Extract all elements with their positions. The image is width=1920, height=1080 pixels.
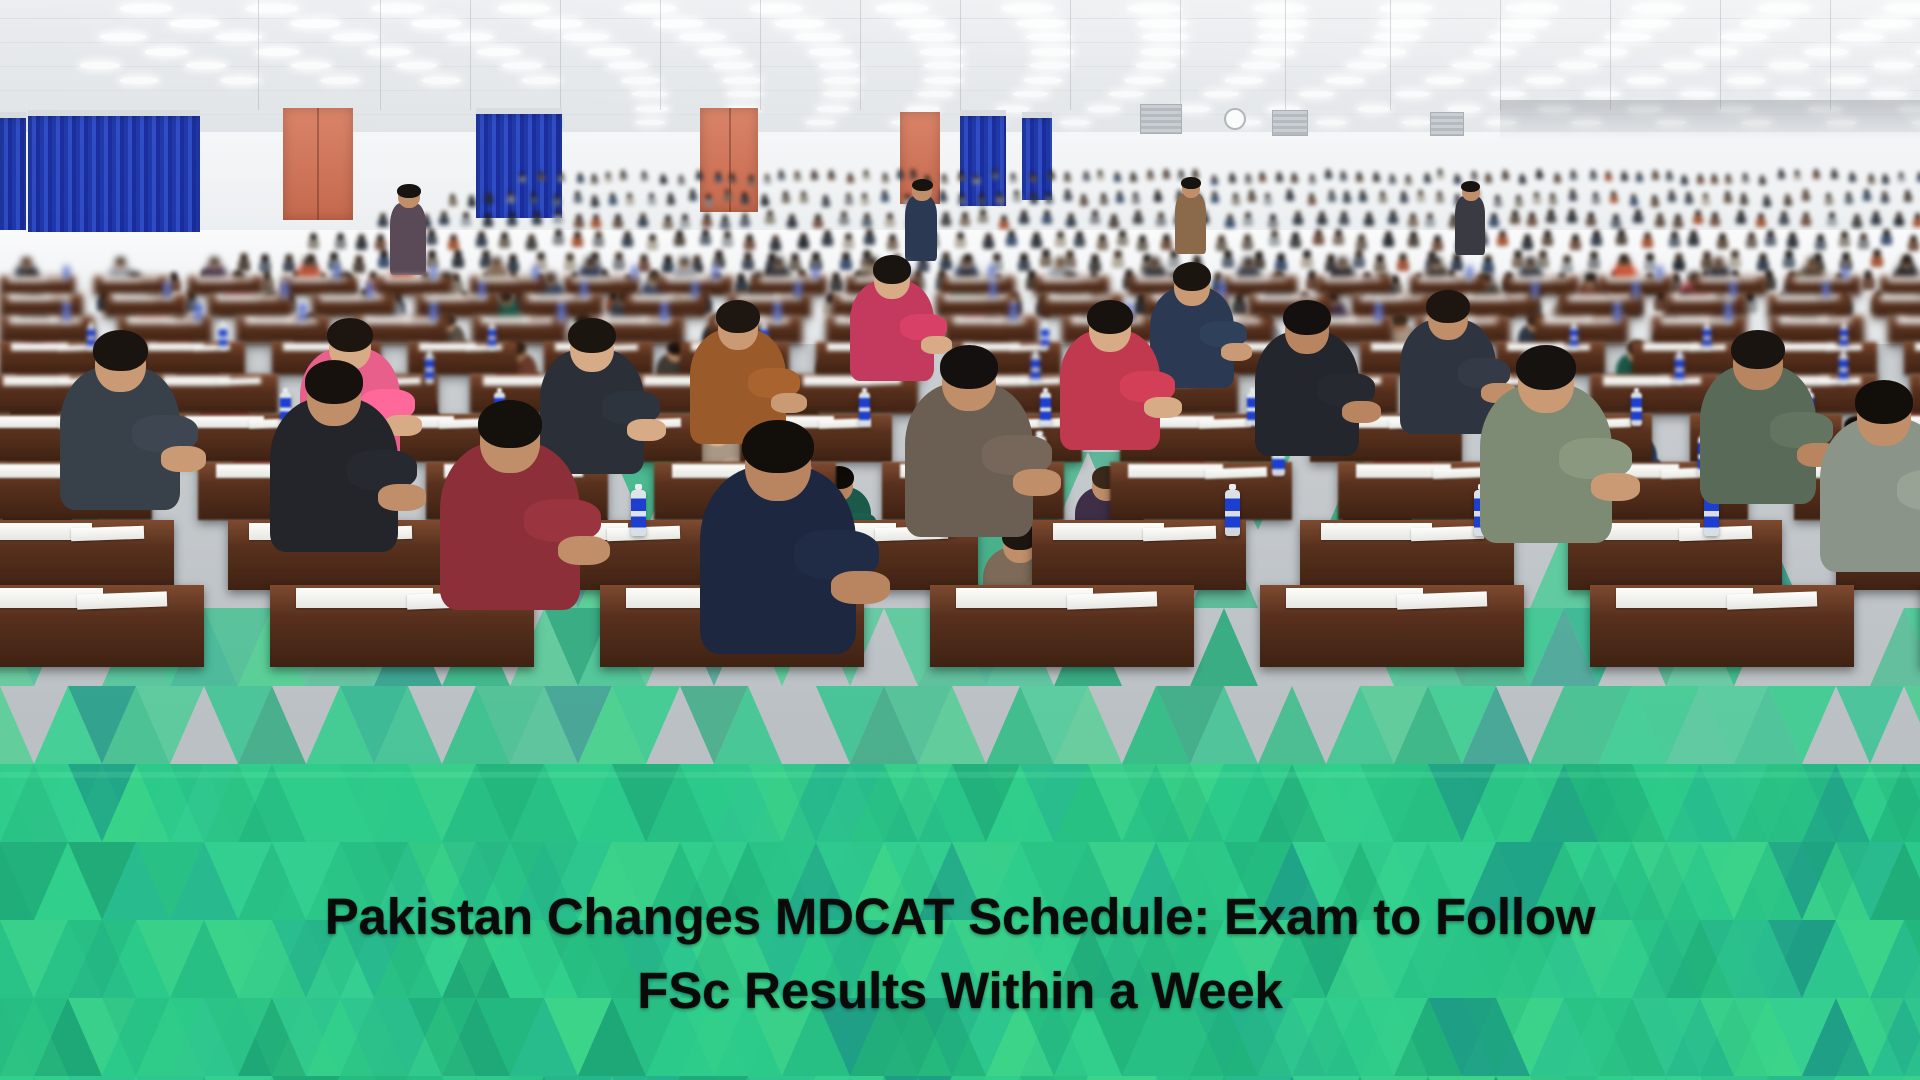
water-bottle [1532, 280, 1538, 299]
question-paper [1143, 526, 1216, 542]
water-bottle [1840, 325, 1848, 350]
exam-desk [1032, 520, 1246, 590]
water-bottle [64, 264, 69, 281]
water-bottle [774, 301, 781, 323]
water-bottle [431, 264, 436, 281]
answer-sheet [1888, 277, 1920, 282]
exam-desk [940, 276, 1015, 295]
headline-block: Pakistan Changes MDCAT Schedule: Exam to… [0, 880, 1920, 1028]
water-bottle [164, 280, 170, 299]
exam-desk [416, 294, 499, 317]
exam-desk [1260, 585, 1524, 667]
exam-desk [1034, 276, 1109, 295]
water-bottle [713, 264, 718, 281]
water-bottle [219, 325, 227, 350]
water-bottle [795, 280, 801, 299]
exam-desk [236, 316, 330, 344]
water-bottle [692, 280, 698, 299]
exam-desk [312, 294, 395, 317]
exam-desk [282, 276, 357, 295]
water-bottle [1703, 325, 1711, 350]
water-bottle [1375, 301, 1382, 323]
water-bottle [558, 301, 565, 323]
exam-desk [1352, 294, 1435, 317]
water-bottle [1725, 301, 1732, 323]
water-bottle [1675, 354, 1684, 384]
exam-desk [208, 294, 291, 317]
water-bottle [1657, 264, 1662, 281]
water-bottle [859, 392, 870, 426]
question-paper [1067, 591, 1157, 609]
water-bottle [661, 301, 668, 323]
water-bottle [299, 301, 306, 323]
water-bottle [430, 301, 437, 323]
question-paper [77, 591, 167, 609]
exam-desk [1590, 374, 1718, 414]
water-bottle [367, 280, 373, 299]
exam-desk [1768, 294, 1851, 317]
exam-desk [0, 294, 83, 317]
exam-desk [1888, 316, 1920, 344]
exam-desk [930, 585, 1194, 667]
exam-desk [376, 276, 451, 295]
exam-desk [136, 342, 245, 375]
news-banner-image: Pakistan Changes MDCAT Schedule: Exam to… [0, 0, 1920, 1080]
water-bottle [1570, 325, 1578, 350]
exam-desk [936, 294, 1019, 317]
water-bottle [990, 280, 996, 299]
exam-desk [1770, 316, 1864, 344]
water-bottle [632, 264, 637, 281]
question-paper [1915, 296, 1920, 301]
water-bottle [1631, 392, 1642, 426]
water-bottle [1040, 392, 1051, 426]
exam-desk [0, 585, 204, 667]
water-bottle [1614, 301, 1621, 323]
exam-desk [1110, 462, 1292, 520]
water-bottle [1031, 354, 1040, 384]
water-bottle [1010, 301, 1017, 323]
question-paper [71, 526, 144, 542]
exam-desk [1904, 342, 1920, 375]
exam-desk [1872, 294, 1920, 317]
exam-desk [564, 276, 639, 295]
exam-desk [1880, 276, 1920, 295]
water-bottle [1467, 264, 1472, 281]
exam-desk [1560, 294, 1643, 317]
answer-sheet [1915, 343, 1920, 351]
water-bottle [488, 325, 496, 350]
question-paper [1397, 591, 1487, 609]
water-bottle [533, 264, 538, 281]
water-bottle [334, 264, 339, 281]
exam-desk [944, 316, 1038, 344]
water-bottle [1730, 280, 1736, 299]
question-paper [1727, 591, 1817, 609]
exam-desk [1504, 276, 1579, 295]
exam-desk [472, 316, 566, 344]
answer-sheet [1897, 317, 1920, 324]
headline-line-2: FSc Results Within a Week [0, 954, 1920, 1028]
water-bottle [1633, 280, 1639, 299]
water-bottle [813, 264, 818, 281]
question-paper [465, 344, 502, 351]
exam-desk [104, 294, 187, 317]
exam-desk [0, 520, 174, 590]
water-bottle [1839, 354, 1848, 384]
exam-desk [188, 276, 263, 295]
water-bottle [195, 301, 202, 323]
water-bottle [581, 280, 587, 299]
water-bottle [1843, 264, 1848, 281]
exam-desk [1222, 276, 1297, 295]
water-bottle [1225, 490, 1240, 536]
water-bottle [282, 280, 288, 299]
exam-desk [94, 276, 169, 295]
water-bottle [63, 301, 70, 323]
headline-line-1: Pakistan Changes MDCAT Schedule: Exam to… [0, 880, 1920, 954]
question-paper [1199, 418, 1251, 429]
water-bottle [1823, 280, 1829, 299]
water-bottle [1041, 325, 1049, 350]
exam-desk [0, 316, 94, 344]
water-bottle [425, 354, 434, 384]
exam-desk [1316, 276, 1391, 295]
exam-desk [1590, 585, 1854, 667]
water-bottle [631, 490, 646, 536]
water-bottle [479, 280, 485, 299]
